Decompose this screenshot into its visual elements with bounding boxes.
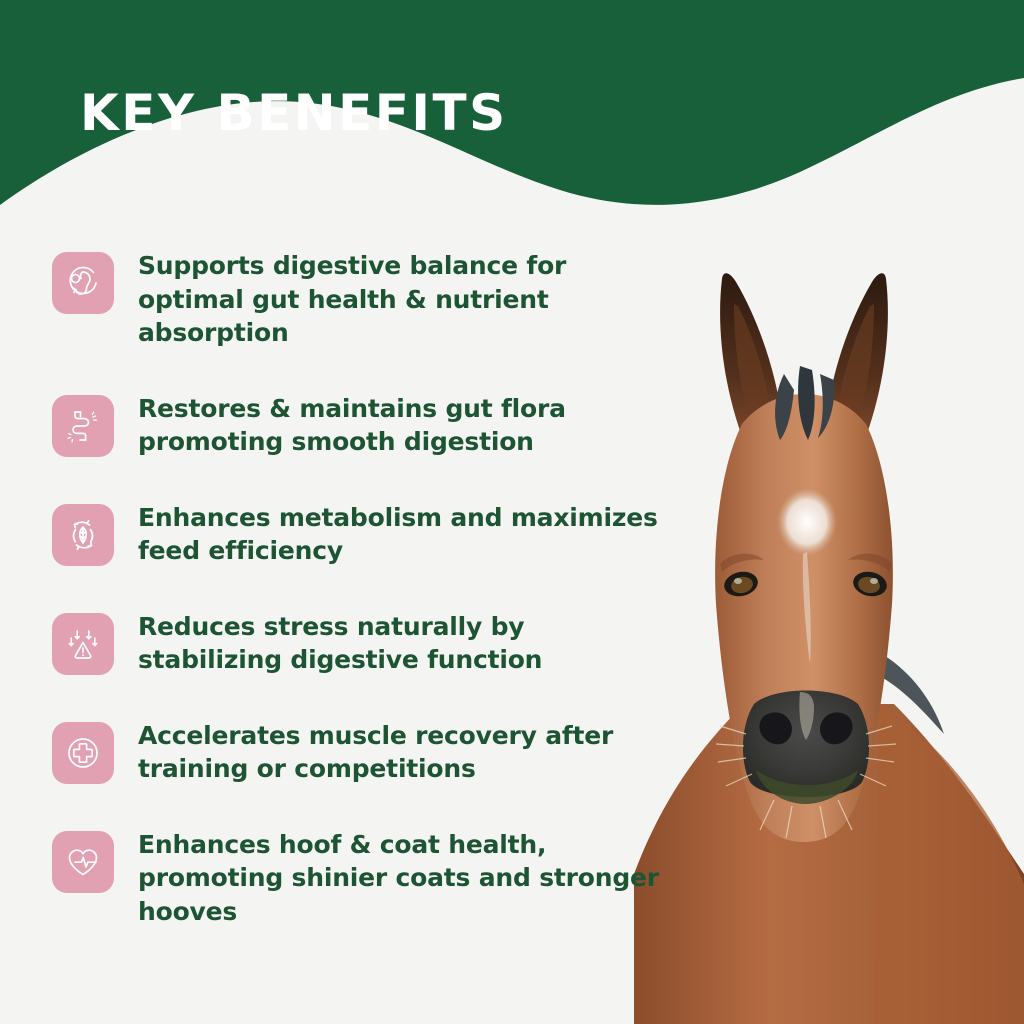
- benefit-text: Supports digestive balance for optimal g…: [138, 248, 662, 350]
- key-benefits-infographic: KEY BENEFITS Supports digestive balance …: [0, 0, 1024, 1024]
- leaf-recycle-metabolism-icon: [63, 515, 103, 555]
- benefit-text: Accelerates muscle recovery after traini…: [138, 718, 662, 786]
- benefit-text: Reduces stress naturally by stabilizing …: [138, 609, 662, 677]
- stomach-digestion-icon: [63, 263, 103, 303]
- stress-reduction-warning-icon: [63, 624, 103, 664]
- benefit-text: Enhances hoof & coat health, promoting s…: [138, 827, 662, 929]
- benefit-item: Supports digestive balance for optimal g…: [52, 248, 662, 350]
- benefit-icon-tile: [52, 831, 114, 893]
- benefit-text: Restores & maintains gut flora promoting…: [138, 391, 662, 459]
- benefits-list: Supports digestive balance for optimal g…: [52, 248, 662, 969]
- benefit-item: Reduces stress naturally by stabilizing …: [52, 609, 662, 677]
- page-title: KEY BENEFITS: [80, 88, 508, 138]
- benefit-icon-tile: [52, 722, 114, 784]
- medical-cross-recovery-icon: [63, 733, 103, 773]
- benefit-item: Restores & maintains gut flora promoting…: [52, 391, 662, 459]
- benefit-item: Enhances metabolism and maximizes feed e…: [52, 500, 662, 568]
- benefit-icon-tile: [52, 504, 114, 566]
- benefit-icon-tile: [52, 395, 114, 457]
- horse-photo: [624, 234, 1024, 1024]
- benefit-item: Enhances hoof & coat health, promoting s…: [52, 827, 662, 929]
- benefit-item: Accelerates muscle recovery after traini…: [52, 718, 662, 786]
- heart-pulse-coat-health-icon: [63, 842, 103, 882]
- benefit-icon-tile: [52, 613, 114, 675]
- intestine-gut-flora-icon: [63, 406, 103, 446]
- benefit-text: Enhances metabolism and maximizes feed e…: [138, 500, 662, 568]
- benefit-icon-tile: [52, 252, 114, 314]
